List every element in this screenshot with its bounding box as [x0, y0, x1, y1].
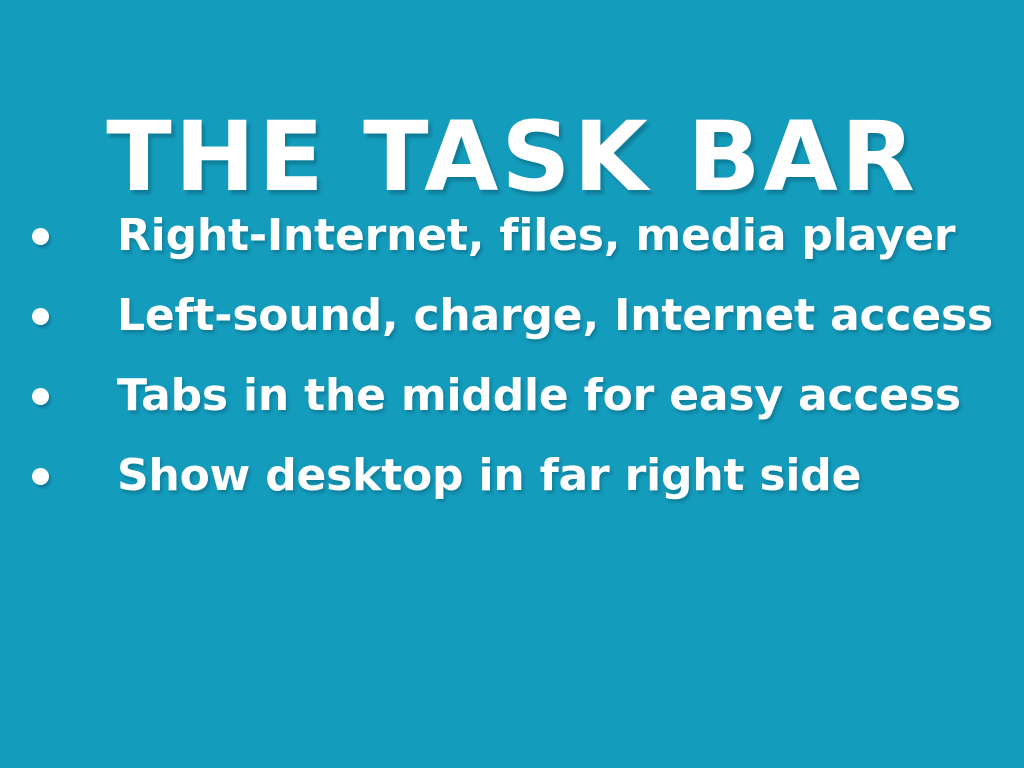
list-item-label: Left-sound, charge, Internet access: [117, 290, 993, 342]
bullet-dot-icon: [32, 468, 49, 485]
list-item-label: Show desktop in far right side: [117, 450, 861, 502]
list-item: Tabs in the middle for easy access: [0, 356, 1024, 436]
list-item-label: Right-Internet, files, media player: [117, 210, 955, 262]
bullet-dot-icon: [32, 388, 49, 405]
bullet-dot-icon: [32, 228, 49, 245]
presentation-slide: THE TASK BAR Right-Internet, files, medi…: [0, 0, 1024, 768]
list-item: Right-Internet, files, media player: [0, 196, 1024, 276]
list-item-label: Tabs in the middle for easy access: [117, 370, 961, 422]
list-item: Show desktop in far right side: [0, 436, 1024, 516]
bullet-dot-icon: [32, 308, 49, 325]
bullet-list: Right-Internet, files, media player Left…: [0, 196, 1024, 516]
list-item: Left-sound, charge, Internet access: [0, 276, 1024, 356]
